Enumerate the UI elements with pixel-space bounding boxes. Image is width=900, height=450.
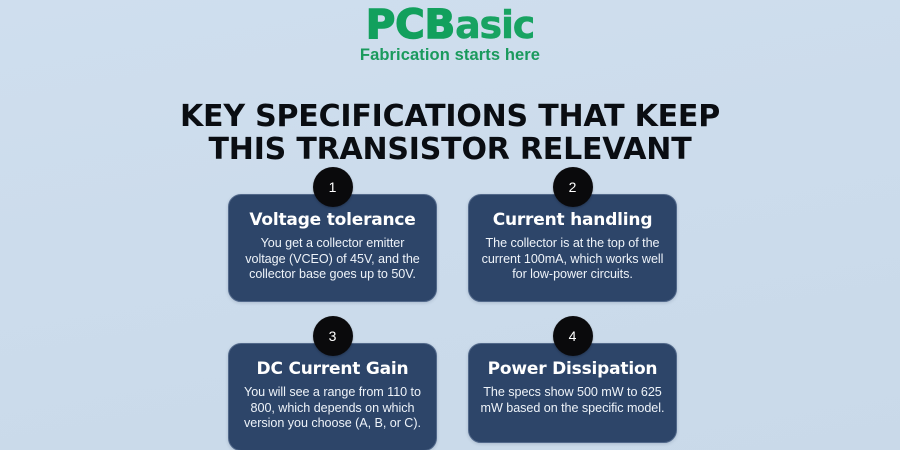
card-description-4: The specs show 500 mW to 625 mW based on… xyxy=(480,385,665,416)
card-number-badge-2: 2 xyxy=(553,167,593,207)
card-body-1: Voltage tolerance You get a collector em… xyxy=(228,194,437,302)
card-number-badge-4: 4 xyxy=(553,316,593,356)
card-description-2: The collector is at the top of the curre… xyxy=(480,236,665,283)
brand-header: PCBasic Fabrication starts here xyxy=(0,6,900,65)
pcbasic-logo: PCBasic xyxy=(366,6,534,45)
spec-card-4: 4 Power Dissipation The specs show 500 m… xyxy=(468,316,677,443)
card-body-4: Power Dissipation The specs show 500 mW … xyxy=(468,343,677,443)
brand-tagline: Fabrication starts here xyxy=(0,46,900,65)
card-title-3: DC Current Gain xyxy=(240,360,425,379)
page-title-line-1: KEY SPECIFICATIONS THAT KEEP xyxy=(180,99,720,134)
page-title: KEY SPECIFICATIONS THAT KEEP THIS TRANSI… xyxy=(0,100,900,166)
page-title-line-2: THIS TRANSISTOR RELEVANT xyxy=(0,133,900,166)
spec-card-1: 1 Voltage tolerance You get a collector … xyxy=(228,167,437,302)
card-number-badge-1: 1 xyxy=(313,167,353,207)
logo-text-pcb: PCB xyxy=(366,2,455,48)
card-number-badge-3: 3 xyxy=(313,316,353,356)
card-body-3: DC Current Gain You will see a range fro… xyxy=(228,343,437,450)
card-title-1: Voltage tolerance xyxy=(240,211,425,230)
card-body-2: Current handling The collector is at the… xyxy=(468,194,677,302)
card-title-2: Current handling xyxy=(480,211,665,230)
card-title-4: Power Dissipation xyxy=(480,360,665,379)
card-description-1: You get a collector emitter voltage (VCE… xyxy=(240,236,425,283)
card-description-3: You will see a range from 110 to 800, wh… xyxy=(240,385,425,432)
spec-card-3: 3 DC Current Gain You will see a range f… xyxy=(228,316,437,450)
logo-text-asic: asic xyxy=(455,3,534,47)
spec-card-2: 2 Current handling The collector is at t… xyxy=(468,167,677,302)
infographic-canvas: PCBasic Fabrication starts here KEY SPEC… xyxy=(0,0,900,450)
